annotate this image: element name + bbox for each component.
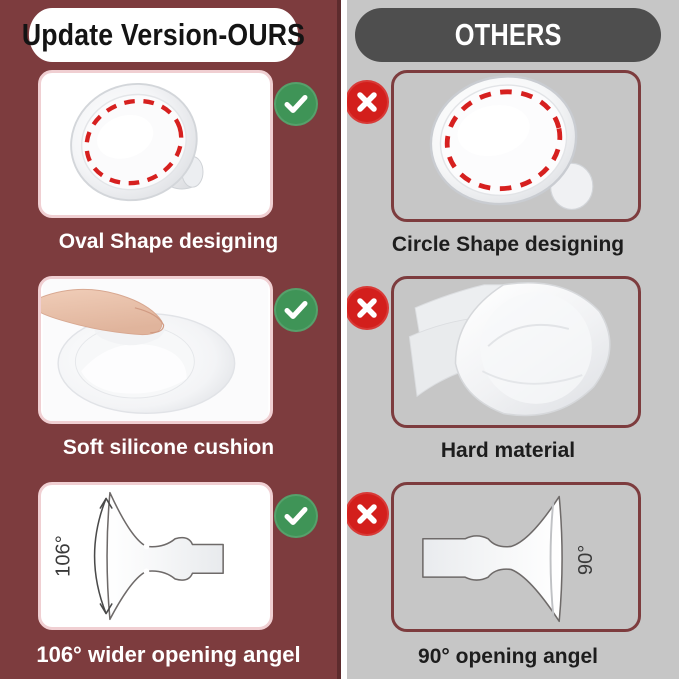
header-title-others: OTHERS <box>455 17 562 53</box>
others-image-card-3: 90° <box>391 482 641 632</box>
comparison-infographic: Update Version-OURS <box>0 0 679 679</box>
check-circle-icon <box>274 494 318 538</box>
others-caption-3: 90° opening angel <box>337 645 679 669</box>
x-circle-icon <box>345 492 389 536</box>
column-divider-white <box>341 0 347 679</box>
flange-profile-106-art: 106° <box>41 485 270 627</box>
x-circle-icon <box>345 286 389 330</box>
others-caption-1: Circle Shape designing <box>337 233 679 257</box>
check-circle-icon <box>274 288 318 332</box>
angle-label-106: 106° <box>53 535 75 577</box>
ours-caption-2: Soft silicone cushion <box>0 436 337 460</box>
ours-caption-1: Oval Shape designing <box>0 230 337 254</box>
header-title-ours: Update Version-OURS <box>22 17 305 53</box>
ours-image-card-2 <box>38 276 273 424</box>
others-image-card-1 <box>391 70 641 222</box>
flange-circle-front-art <box>394 73 638 219</box>
hard-plastic-flange-art <box>394 279 638 425</box>
column-ours: Update Version-OURS <box>0 0 337 679</box>
others-image-card-2 <box>391 276 641 428</box>
ours-image-card-1 <box>38 70 273 218</box>
column-others: OTHERS <box>337 0 679 679</box>
hand-pressing-silicone-art <box>41 279 270 421</box>
header-pill-ours: Update Version-OURS <box>29 8 298 62</box>
check-circle-icon <box>274 82 318 126</box>
ours-caption-3: 106° wider opening angel <box>0 642 337 668</box>
x-circle-icon <box>345 80 389 124</box>
flange-profile-90-art: 90° <box>394 485 638 629</box>
ours-image-card-3: 106° <box>38 482 273 630</box>
header-pill-others: OTHERS <box>355 8 661 62</box>
flange-oval-front-art <box>41 73 270 215</box>
others-caption-2: Hard material <box>337 439 679 463</box>
angle-label-90: 90° <box>575 545 597 575</box>
